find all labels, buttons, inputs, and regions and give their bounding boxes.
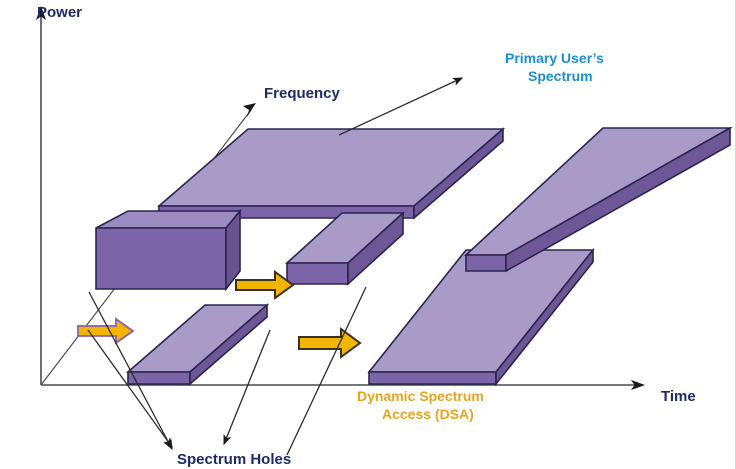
narrow-slab-mid-upper <box>287 213 403 284</box>
primary-user-slab-right-upper <box>466 128 730 271</box>
arrow-shape <box>236 272 293 298</box>
power-axis-label: Power <box>37 4 82 21</box>
dsa-callout-line1: Dynamic Spectrum <box>357 388 484 404</box>
pointer-hole-right <box>287 287 366 455</box>
box-front-face <box>96 228 226 289</box>
diagram-canvas: Power Frequency Time <box>0 0 736 469</box>
narrow-slab-lower-left <box>128 305 267 384</box>
box-top-face <box>96 211 240 228</box>
primary-user-slab-large <box>159 129 503 218</box>
slab-top-face <box>159 129 503 206</box>
frequency-axis-arrowhead <box>243 103 256 117</box>
arrow-shape <box>299 329 360 357</box>
primary-user-callout-line1: Primary User’s <box>505 50 604 66</box>
time-axis-label: Time <box>661 388 696 405</box>
dsa-arrow-middle <box>236 272 293 298</box>
slab-front-face <box>287 263 348 284</box>
slab-top-face <box>128 305 267 372</box>
slab-top-face <box>466 128 730 255</box>
secondary-access-box-tall <box>96 211 240 289</box>
slab-front-face <box>466 255 506 271</box>
dsa-arrow-right <box>299 329 360 357</box>
pointer-primary-user <box>339 78 462 135</box>
spectrum-diagram: Power Frequency Time <box>0 0 736 469</box>
slab-front-face <box>369 372 496 384</box>
frequency-axis-label: Frequency <box>264 85 341 102</box>
spectrum-holes-callout: Spectrum Holes <box>177 451 291 468</box>
primary-user-callout-line2: Spectrum <box>528 68 593 84</box>
dsa-callout-line2: Access (DSA) <box>382 406 474 422</box>
